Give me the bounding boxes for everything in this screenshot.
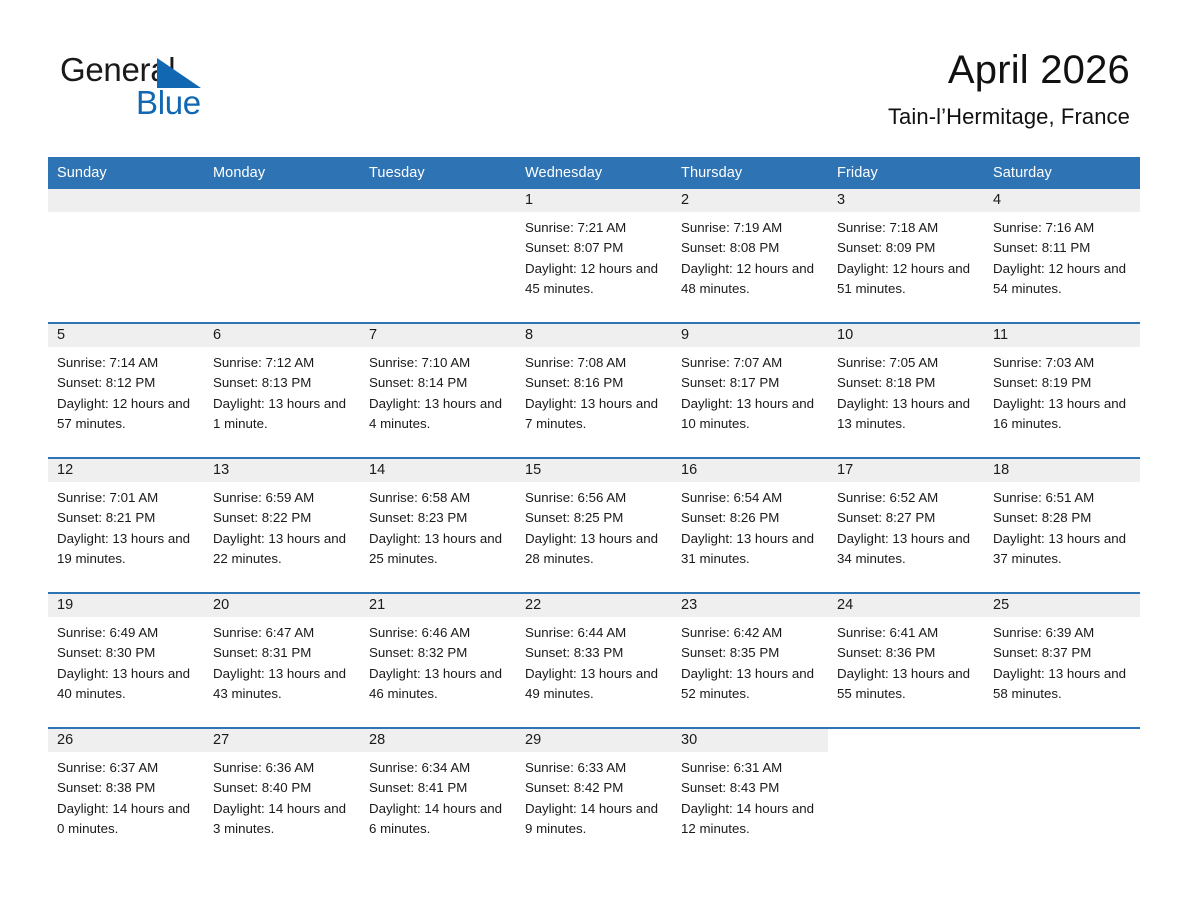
day-details: Sunrise: 6:51 AMSunset: 8:28 PMDaylight:… (984, 482, 1140, 569)
day-number: 26 (48, 729, 204, 752)
calendar-cell-inner: 16Sunrise: 6:54 AMSunset: 8:26 PMDayligh… (672, 459, 828, 592)
calendar-day-cell[interactable]: 21Sunrise: 6:46 AMSunset: 8:32 PMDayligh… (360, 593, 516, 728)
calendar-week-row: 26Sunrise: 6:37 AMSunset: 8:38 PMDayligh… (48, 728, 1140, 862)
daylight-text: Daylight: 12 hours and 51 minutes. (837, 259, 976, 300)
sunset-text: Sunset: 8:30 PM (57, 643, 196, 663)
day-number (204, 189, 360, 212)
calendar-day-cell[interactable]: 8Sunrise: 7:08 AMSunset: 8:16 PMDaylight… (516, 323, 672, 458)
calendar-cell-inner: 18Sunrise: 6:51 AMSunset: 8:28 PMDayligh… (984, 459, 1140, 592)
logo-word-blue: Blue (136, 85, 201, 121)
day-number: 20 (204, 594, 360, 617)
calendar-day-cell[interactable]: 27Sunrise: 6:36 AMSunset: 8:40 PMDayligh… (204, 728, 360, 862)
sunrise-text: Sunrise: 6:39 AM (993, 623, 1132, 643)
day-number: 10 (828, 324, 984, 347)
calendar-day-cell[interactable]: 24Sunrise: 6:41 AMSunset: 8:36 PMDayligh… (828, 593, 984, 728)
day-number: 22 (516, 594, 672, 617)
sunset-text: Sunset: 8:42 PM (525, 778, 664, 798)
calendar-cell-empty (48, 189, 204, 323)
sunset-text: Sunset: 8:07 PM (525, 238, 664, 258)
day-number: 16 (672, 459, 828, 482)
day-details: Sunrise: 7:05 AMSunset: 8:18 PMDaylight:… (828, 347, 984, 434)
calendar-day-cell[interactable]: 2Sunrise: 7:19 AMSunset: 8:08 PMDaylight… (672, 189, 828, 323)
weekday-header-saturday: Saturday (984, 157, 1140, 189)
sunset-text: Sunset: 8:43 PM (681, 778, 820, 798)
calendar-header-row: Sunday Monday Tuesday Wednesday Thursday… (48, 157, 1140, 189)
calendar-cell-inner: 8Sunrise: 7:08 AMSunset: 8:16 PMDaylight… (516, 324, 672, 457)
day-number: 3 (828, 189, 984, 212)
calendar-cell-inner: 15Sunrise: 6:56 AMSunset: 8:25 PMDayligh… (516, 459, 672, 592)
sunset-text: Sunset: 8:32 PM (369, 643, 508, 663)
calendar-cell-inner: 6Sunrise: 7:12 AMSunset: 8:13 PMDaylight… (204, 324, 360, 457)
daylight-text: Daylight: 13 hours and 34 minutes. (837, 529, 976, 570)
day-number: 7 (360, 324, 516, 347)
calendar-cell-inner: 7Sunrise: 7:10 AMSunset: 8:14 PMDaylight… (360, 324, 516, 457)
daylight-text: Daylight: 13 hours and 31 minutes. (681, 529, 820, 570)
sunrise-text: Sunrise: 7:16 AM (993, 218, 1132, 238)
sunset-text: Sunset: 8:41 PM (369, 778, 508, 798)
calendar-day-cell[interactable]: 7Sunrise: 7:10 AMSunset: 8:14 PMDaylight… (360, 323, 516, 458)
calendar-day-cell[interactable]: 30Sunrise: 6:31 AMSunset: 8:43 PMDayligh… (672, 728, 828, 862)
calendar-day-cell[interactable]: 25Sunrise: 6:39 AMSunset: 8:37 PMDayligh… (984, 593, 1140, 728)
weekday-header-thursday: Thursday (672, 157, 828, 189)
sunrise-text: Sunrise: 6:52 AM (837, 488, 976, 508)
calendar-day-cell[interactable]: 13Sunrise: 6:59 AMSunset: 8:22 PMDayligh… (204, 458, 360, 593)
daylight-text: Daylight: 13 hours and 58 minutes. (993, 664, 1132, 705)
daylight-text: Daylight: 13 hours and 7 minutes. (525, 394, 664, 435)
day-details: Sunrise: 7:14 AMSunset: 8:12 PMDaylight:… (48, 347, 204, 434)
calendar-cell-inner: 1Sunrise: 7:21 AMSunset: 8:07 PMDaylight… (516, 189, 672, 322)
calendar-cell-inner: 24Sunrise: 6:41 AMSunset: 8:36 PMDayligh… (828, 594, 984, 727)
day-details: Sunrise: 7:07 AMSunset: 8:17 PMDaylight:… (672, 347, 828, 434)
day-number: 5 (48, 324, 204, 347)
calendar-day-cell[interactable]: 11Sunrise: 7:03 AMSunset: 8:19 PMDayligh… (984, 323, 1140, 458)
sunset-text: Sunset: 8:35 PM (681, 643, 820, 663)
daylight-text: Daylight: 13 hours and 40 minutes. (57, 664, 196, 705)
calendar-cell-inner: 17Sunrise: 6:52 AMSunset: 8:27 PMDayligh… (828, 459, 984, 592)
title-block: April 2026 Tain-l’Hermitage, France (888, 46, 1130, 132)
sunrise-text: Sunrise: 6:34 AM (369, 758, 508, 778)
daylight-text: Daylight: 13 hours and 13 minutes. (837, 394, 976, 435)
day-details: Sunrise: 6:49 AMSunset: 8:30 PMDaylight:… (48, 617, 204, 704)
calendar-cell-inner (204, 189, 360, 322)
day-number: 17 (828, 459, 984, 482)
weekday-header-wednesday: Wednesday (516, 157, 672, 189)
calendar-cell-inner: 3Sunrise: 7:18 AMSunset: 8:09 PMDaylight… (828, 189, 984, 322)
day-number (828, 729, 984, 752)
day-details: Sunrise: 6:54 AMSunset: 8:26 PMDaylight:… (672, 482, 828, 569)
calendar-day-cell[interactable]: 29Sunrise: 6:33 AMSunset: 8:42 PMDayligh… (516, 728, 672, 862)
daylight-text: Daylight: 13 hours and 1 minute. (213, 394, 352, 435)
calendar-day-cell[interactable]: 3Sunrise: 7:18 AMSunset: 8:09 PMDaylight… (828, 189, 984, 323)
sunset-text: Sunset: 8:11 PM (993, 238, 1132, 258)
sunset-text: Sunset: 8:25 PM (525, 508, 664, 528)
day-details: Sunrise: 6:56 AMSunset: 8:25 PMDaylight:… (516, 482, 672, 569)
weekday-header-tuesday: Tuesday (360, 157, 516, 189)
day-details: Sunrise: 6:46 AMSunset: 8:32 PMDaylight:… (360, 617, 516, 704)
general-blue-logo[interactable]: General Blue (60, 52, 320, 132)
daylight-text: Daylight: 12 hours and 45 minutes. (525, 259, 664, 300)
calendar-week-row: 19Sunrise: 6:49 AMSunset: 8:30 PMDayligh… (48, 593, 1140, 728)
calendar-cell-inner: 27Sunrise: 6:36 AMSunset: 8:40 PMDayligh… (204, 729, 360, 862)
sunset-text: Sunset: 8:19 PM (993, 373, 1132, 393)
day-number: 24 (828, 594, 984, 617)
calendar-cell-inner: 12Sunrise: 7:01 AMSunset: 8:21 PMDayligh… (48, 459, 204, 592)
sunrise-text: Sunrise: 6:31 AM (681, 758, 820, 778)
calendar-week-row: 1Sunrise: 7:21 AMSunset: 8:07 PMDaylight… (48, 189, 1140, 323)
day-details: Sunrise: 7:16 AMSunset: 8:11 PMDaylight:… (984, 212, 1140, 299)
daylight-text: Daylight: 13 hours and 22 minutes. (213, 529, 352, 570)
day-number: 28 (360, 729, 516, 752)
calendar-cell-inner: 14Sunrise: 6:58 AMSunset: 8:23 PMDayligh… (360, 459, 516, 592)
daylight-text: Daylight: 13 hours and 25 minutes. (369, 529, 508, 570)
day-number: 4 (984, 189, 1140, 212)
sunset-text: Sunset: 8:13 PM (213, 373, 352, 393)
calendar-table: Sunday Monday Tuesday Wednesday Thursday… (48, 157, 1140, 862)
calendar-cell-inner: 10Sunrise: 7:05 AMSunset: 8:18 PMDayligh… (828, 324, 984, 457)
calendar-cell-inner: 28Sunrise: 6:34 AMSunset: 8:41 PMDayligh… (360, 729, 516, 862)
calendar-cell-inner (828, 729, 984, 862)
daylight-text: Daylight: 13 hours and 49 minutes. (525, 664, 664, 705)
day-details: Sunrise: 6:42 AMSunset: 8:35 PMDaylight:… (672, 617, 828, 704)
day-details: Sunrise: 6:59 AMSunset: 8:22 PMDaylight:… (204, 482, 360, 569)
daylight-text: Daylight: 12 hours and 57 minutes. (57, 394, 196, 435)
sunrise-text: Sunrise: 7:18 AM (837, 218, 976, 238)
day-number: 2 (672, 189, 828, 212)
calendar-day-cell[interactable]: 20Sunrise: 6:47 AMSunset: 8:31 PMDayligh… (204, 593, 360, 728)
day-details: Sunrise: 6:44 AMSunset: 8:33 PMDaylight:… (516, 617, 672, 704)
calendar-cell-empty (828, 728, 984, 862)
sunrise-text: Sunrise: 7:14 AM (57, 353, 196, 373)
calendar-cell-inner (984, 729, 1140, 862)
calendar-cell-empty (984, 728, 1140, 862)
day-details: Sunrise: 6:58 AMSunset: 8:23 PMDaylight:… (360, 482, 516, 569)
calendar-cell-inner: 26Sunrise: 6:37 AMSunset: 8:38 PMDayligh… (48, 729, 204, 862)
calendar-cell-inner: 20Sunrise: 6:47 AMSunset: 8:31 PMDayligh… (204, 594, 360, 727)
calendar-cell-inner: 13Sunrise: 6:59 AMSunset: 8:22 PMDayligh… (204, 459, 360, 592)
day-details: Sunrise: 7:10 AMSunset: 8:14 PMDaylight:… (360, 347, 516, 434)
calendar-cell-inner (48, 189, 204, 322)
daylight-text: Daylight: 13 hours and 52 minutes. (681, 664, 820, 705)
calendar-page: General Blue April 2026 Tain-l’Hermitage… (0, 0, 1188, 918)
day-details: Sunrise: 7:03 AMSunset: 8:19 PMDaylight:… (984, 347, 1140, 434)
daylight-text: Daylight: 13 hours and 10 minutes. (681, 394, 820, 435)
sunrise-text: Sunrise: 7:08 AM (525, 353, 664, 373)
daylight-text: Daylight: 13 hours and 19 minutes. (57, 529, 196, 570)
day-details: Sunrise: 7:01 AMSunset: 8:21 PMDaylight:… (48, 482, 204, 569)
calendar-day-cell[interactable]: 26Sunrise: 6:37 AMSunset: 8:38 PMDayligh… (48, 728, 204, 862)
calendar-day-cell[interactable]: 14Sunrise: 6:58 AMSunset: 8:23 PMDayligh… (360, 458, 516, 593)
day-details: Sunrise: 6:33 AMSunset: 8:42 PMDaylight:… (516, 752, 672, 839)
daylight-text: Daylight: 13 hours and 4 minutes. (369, 394, 508, 435)
day-number: 11 (984, 324, 1140, 347)
sunrise-text: Sunrise: 6:44 AM (525, 623, 664, 643)
sunset-text: Sunset: 8:16 PM (525, 373, 664, 393)
day-details: Sunrise: 6:36 AMSunset: 8:40 PMDaylight:… (204, 752, 360, 839)
sunrise-text: Sunrise: 6:51 AM (993, 488, 1132, 508)
sunrise-text: Sunrise: 7:03 AM (993, 353, 1132, 373)
daylight-text: Daylight: 14 hours and 0 minutes. (57, 799, 196, 840)
day-details: Sunrise: 7:08 AMSunset: 8:16 PMDaylight:… (516, 347, 672, 434)
day-number: 18 (984, 459, 1140, 482)
sunrise-text: Sunrise: 6:54 AM (681, 488, 820, 508)
sunset-text: Sunset: 8:18 PM (837, 373, 976, 393)
calendar-week-row: 5Sunrise: 7:14 AMSunset: 8:12 PMDaylight… (48, 323, 1140, 458)
calendar-cell-inner: 25Sunrise: 6:39 AMSunset: 8:37 PMDayligh… (984, 594, 1140, 727)
calendar-week-row: 12Sunrise: 7:01 AMSunset: 8:21 PMDayligh… (48, 458, 1140, 593)
day-number (48, 189, 204, 212)
calendar-day-cell[interactable]: 18Sunrise: 6:51 AMSunset: 8:28 PMDayligh… (984, 458, 1140, 593)
location-subtitle: Tain-l’Hermitage, France (888, 102, 1130, 132)
sunset-text: Sunset: 8:14 PM (369, 373, 508, 393)
day-number: 9 (672, 324, 828, 347)
sunrise-text: Sunrise: 7:21 AM (525, 218, 664, 238)
daylight-text: Daylight: 13 hours and 37 minutes. (993, 529, 1132, 570)
sunset-text: Sunset: 8:40 PM (213, 778, 352, 798)
day-number: 6 (204, 324, 360, 347)
sunset-text: Sunset: 8:31 PM (213, 643, 352, 663)
calendar-cell-inner: 4Sunrise: 7:16 AMSunset: 8:11 PMDaylight… (984, 189, 1140, 322)
day-details: Sunrise: 6:41 AMSunset: 8:36 PMDaylight:… (828, 617, 984, 704)
sunrise-text: Sunrise: 7:19 AM (681, 218, 820, 238)
day-number (984, 729, 1140, 752)
page-title: April 2026 (888, 46, 1130, 94)
calendar-cell-inner: 2Sunrise: 7:19 AMSunset: 8:08 PMDaylight… (672, 189, 828, 322)
day-details: Sunrise: 6:34 AMSunset: 8:41 PMDaylight:… (360, 752, 516, 839)
daylight-text: Daylight: 14 hours and 9 minutes. (525, 799, 664, 840)
calendar-body: 1Sunrise: 7:21 AMSunset: 8:07 PMDaylight… (48, 189, 1140, 862)
calendar-cell-inner: 30Sunrise: 6:31 AMSunset: 8:43 PMDayligh… (672, 729, 828, 862)
sunrise-text: Sunrise: 7:01 AM (57, 488, 196, 508)
daylight-text: Daylight: 12 hours and 48 minutes. (681, 259, 820, 300)
daylight-text: Daylight: 14 hours and 12 minutes. (681, 799, 820, 840)
calendar-day-cell[interactable]: 15Sunrise: 6:56 AMSunset: 8:25 PMDayligh… (516, 458, 672, 593)
calendar-day-cell[interactable]: 10Sunrise: 7:05 AMSunset: 8:18 PMDayligh… (828, 323, 984, 458)
day-number: 21 (360, 594, 516, 617)
sunrise-text: Sunrise: 6:49 AM (57, 623, 196, 643)
sunrise-text: Sunrise: 6:47 AM (213, 623, 352, 643)
calendar-day-cell[interactable]: 19Sunrise: 6:49 AMSunset: 8:30 PMDayligh… (48, 593, 204, 728)
sunrise-text: Sunrise: 7:07 AM (681, 353, 820, 373)
sunset-text: Sunset: 8:12 PM (57, 373, 196, 393)
daylight-text: Daylight: 12 hours and 54 minutes. (993, 259, 1132, 300)
calendar-day-cell[interactable]: 12Sunrise: 7:01 AMSunset: 8:21 PMDayligh… (48, 458, 204, 593)
calendar-day-cell[interactable]: 1Sunrise: 7:21 AMSunset: 8:07 PMDaylight… (516, 189, 672, 323)
day-number: 27 (204, 729, 360, 752)
sunrise-text: Sunrise: 6:42 AM (681, 623, 820, 643)
day-number: 15 (516, 459, 672, 482)
weekday-header-monday: Monday (204, 157, 360, 189)
daylight-text: Daylight: 13 hours and 16 minutes. (993, 394, 1132, 435)
day-details: Sunrise: 6:31 AMSunset: 8:43 PMDaylight:… (672, 752, 828, 839)
sunset-text: Sunset: 8:17 PM (681, 373, 820, 393)
calendar-day-cell[interactable]: 4Sunrise: 7:16 AMSunset: 8:11 PMDaylight… (984, 189, 1140, 323)
day-details: Sunrise: 7:21 AMSunset: 8:07 PMDaylight:… (516, 212, 672, 299)
sunset-text: Sunset: 8:33 PM (525, 643, 664, 663)
day-details: Sunrise: 6:37 AMSunset: 8:38 PMDaylight:… (48, 752, 204, 839)
calendar-cell-inner: 9Sunrise: 7:07 AMSunset: 8:17 PMDaylight… (672, 324, 828, 457)
day-number: 30 (672, 729, 828, 752)
calendar-day-cell[interactable]: 28Sunrise: 6:34 AMSunset: 8:41 PMDayligh… (360, 728, 516, 862)
calendar-cell-inner: 23Sunrise: 6:42 AMSunset: 8:35 PMDayligh… (672, 594, 828, 727)
day-details: Sunrise: 7:18 AMSunset: 8:09 PMDaylight:… (828, 212, 984, 299)
daylight-text: Daylight: 14 hours and 6 minutes. (369, 799, 508, 840)
day-number: 29 (516, 729, 672, 752)
day-number: 23 (672, 594, 828, 617)
calendar-cell-inner: 5Sunrise: 7:14 AMSunset: 8:12 PMDaylight… (48, 324, 204, 457)
day-details: Sunrise: 7:19 AMSunset: 8:08 PMDaylight:… (672, 212, 828, 299)
calendar-cell-inner: 21Sunrise: 6:46 AMSunset: 8:32 PMDayligh… (360, 594, 516, 727)
calendar-day-cell[interactable]: 16Sunrise: 6:54 AMSunset: 8:26 PMDayligh… (672, 458, 828, 593)
day-details: Sunrise: 6:39 AMSunset: 8:37 PMDaylight:… (984, 617, 1140, 704)
sunset-text: Sunset: 8:36 PM (837, 643, 976, 663)
daylight-text: Daylight: 13 hours and 43 minutes. (213, 664, 352, 705)
calendar-day-cell[interactable]: 23Sunrise: 6:42 AMSunset: 8:35 PMDayligh… (672, 593, 828, 728)
day-number: 13 (204, 459, 360, 482)
sunset-text: Sunset: 8:27 PM (837, 508, 976, 528)
sunset-text: Sunset: 8:26 PM (681, 508, 820, 528)
day-details: Sunrise: 7:12 AMSunset: 8:13 PMDaylight:… (204, 347, 360, 434)
sunrise-text: Sunrise: 6:36 AM (213, 758, 352, 778)
calendar-day-cell[interactable]: 9Sunrise: 7:07 AMSunset: 8:17 PMDaylight… (672, 323, 828, 458)
sunset-text: Sunset: 8:37 PM (993, 643, 1132, 663)
sunrise-text: Sunrise: 6:59 AM (213, 488, 352, 508)
daylight-text: Daylight: 14 hours and 3 minutes. (213, 799, 352, 840)
daylight-text: Daylight: 13 hours and 46 minutes. (369, 664, 508, 705)
sunset-text: Sunset: 8:08 PM (681, 238, 820, 258)
calendar-day-cell[interactable]: 5Sunrise: 7:14 AMSunset: 8:12 PMDaylight… (48, 323, 204, 458)
calendar-cell-inner: 29Sunrise: 6:33 AMSunset: 8:42 PMDayligh… (516, 729, 672, 862)
day-number: 12 (48, 459, 204, 482)
sunrise-text: Sunrise: 6:37 AM (57, 758, 196, 778)
calendar-cell-empty (360, 189, 516, 323)
calendar-cell-inner (360, 189, 516, 322)
page-header: General Blue April 2026 Tain-l’Hermitage… (0, 0, 1188, 155)
weekday-header-friday: Friday (828, 157, 984, 189)
calendar-day-cell[interactable]: 17Sunrise: 6:52 AMSunset: 8:27 PMDayligh… (828, 458, 984, 593)
sunset-text: Sunset: 8:23 PM (369, 508, 508, 528)
day-number: 8 (516, 324, 672, 347)
day-number (360, 189, 516, 212)
sunset-text: Sunset: 8:38 PM (57, 778, 196, 798)
calendar-cell-inner: 19Sunrise: 6:49 AMSunset: 8:30 PMDayligh… (48, 594, 204, 727)
daylight-text: Daylight: 13 hours and 28 minutes. (525, 529, 664, 570)
sunset-text: Sunset: 8:21 PM (57, 508, 196, 528)
day-number: 1 (516, 189, 672, 212)
sunrise-text: Sunrise: 6:58 AM (369, 488, 508, 508)
day-number: 14 (360, 459, 516, 482)
day-details: Sunrise: 6:47 AMSunset: 8:31 PMDaylight:… (204, 617, 360, 704)
sunset-text: Sunset: 8:22 PM (213, 508, 352, 528)
sunrise-text: Sunrise: 7:05 AM (837, 353, 976, 373)
sunrise-text: Sunrise: 7:12 AM (213, 353, 352, 373)
sunrise-text: Sunrise: 6:46 AM (369, 623, 508, 643)
calendar-cell-inner: 22Sunrise: 6:44 AMSunset: 8:33 PMDayligh… (516, 594, 672, 727)
sunset-text: Sunset: 8:28 PM (993, 508, 1132, 528)
sunrise-text: Sunrise: 6:33 AM (525, 758, 664, 778)
calendar-day-cell[interactable]: 6Sunrise: 7:12 AMSunset: 8:13 PMDaylight… (204, 323, 360, 458)
sunrise-text: Sunrise: 6:56 AM (525, 488, 664, 508)
weekday-header-sunday: Sunday (48, 157, 204, 189)
calendar-cell-inner: 11Sunrise: 7:03 AMSunset: 8:19 PMDayligh… (984, 324, 1140, 457)
day-details: Sunrise: 6:52 AMSunset: 8:27 PMDaylight:… (828, 482, 984, 569)
sunrise-text: Sunrise: 6:41 AM (837, 623, 976, 643)
sunrise-text: Sunrise: 7:10 AM (369, 353, 508, 373)
daylight-text: Daylight: 13 hours and 55 minutes. (837, 664, 976, 705)
day-number: 19 (48, 594, 204, 617)
sunset-text: Sunset: 8:09 PM (837, 238, 976, 258)
calendar-cell-empty (204, 189, 360, 323)
calendar-day-cell[interactable]: 22Sunrise: 6:44 AMSunset: 8:33 PMDayligh… (516, 593, 672, 728)
day-number: 25 (984, 594, 1140, 617)
